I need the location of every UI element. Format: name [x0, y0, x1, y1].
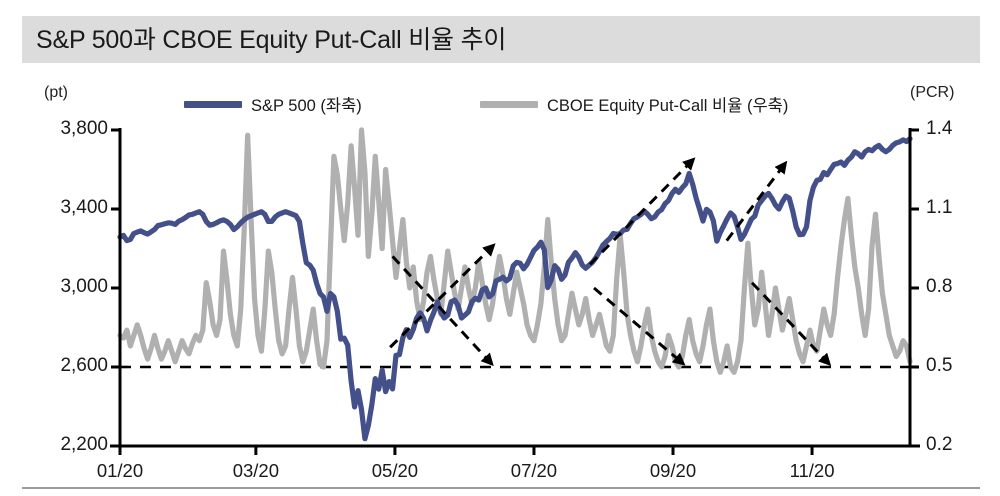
series-line-pcr — [120, 130, 910, 372]
x-axis-tick-label-3: 07/20 — [489, 460, 579, 482]
x-axis-tick-label-2: 05/20 — [350, 460, 440, 482]
right-axis-tick-label-2: 0.8 — [926, 276, 996, 298]
chart-figure: S&P 500과 CBOE Equity Put-Call 비율 추이 (pt)… — [0, 0, 1000, 496]
annotation-uptrend-arrow-2 — [590, 162, 691, 265]
bottom-divider — [22, 487, 980, 489]
x-axis-tick-label-1: 03/20 — [211, 460, 301, 482]
x-axis-tick-label-5: 11/20 — [767, 460, 857, 482]
x-axis-tick-label-0: 01/20 — [75, 460, 165, 482]
right-axis-tick-label-4: 1.4 — [926, 118, 996, 140]
right-axis-tick-label-0: 0.2 — [926, 434, 996, 456]
left-axis-tick-label-2: 3,000 — [22, 276, 108, 298]
right-axis-tick-label-1: 0.5 — [926, 355, 996, 377]
right-axis-tick-label-3: 1.1 — [926, 197, 996, 219]
plot-area — [0, 0, 1000, 496]
left-axis-tick-label-0: 2,200 — [22, 434, 108, 456]
left-axis-tick-label-3: 3,400 — [22, 197, 108, 219]
left-axis-tick-label-1: 2,600 — [22, 355, 108, 377]
left-axis-tick-label-4: 3,800 — [22, 118, 108, 140]
x-axis-tick-label-4: 09/20 — [628, 460, 718, 482]
